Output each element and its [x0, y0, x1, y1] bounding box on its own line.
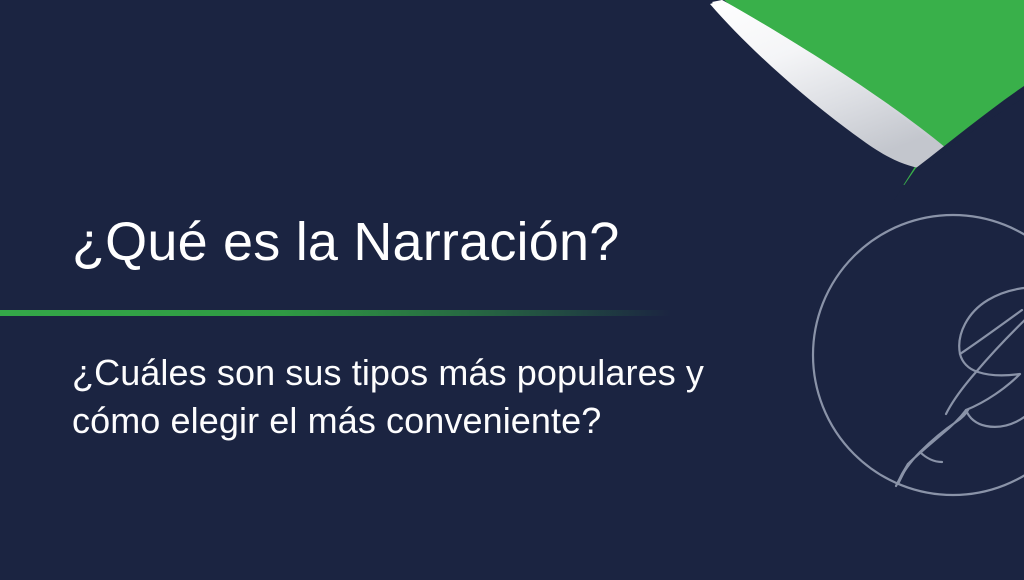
- quill-feather-icon: [896, 287, 1024, 486]
- green-divider-rule: [0, 310, 672, 316]
- page-title: ¿Qué es la Narración?: [72, 212, 619, 272]
- slide-subtitle: ¿Cuáles son sus tipos más populares y có…: [72, 349, 802, 444]
- slide-canvas: ¿Qué es la Narración? ¿Cuáles son sus ti…: [0, 0, 1024, 580]
- quill-emblem: [810, 212, 1024, 502]
- green-corner-accent: [694, 0, 1024, 185]
